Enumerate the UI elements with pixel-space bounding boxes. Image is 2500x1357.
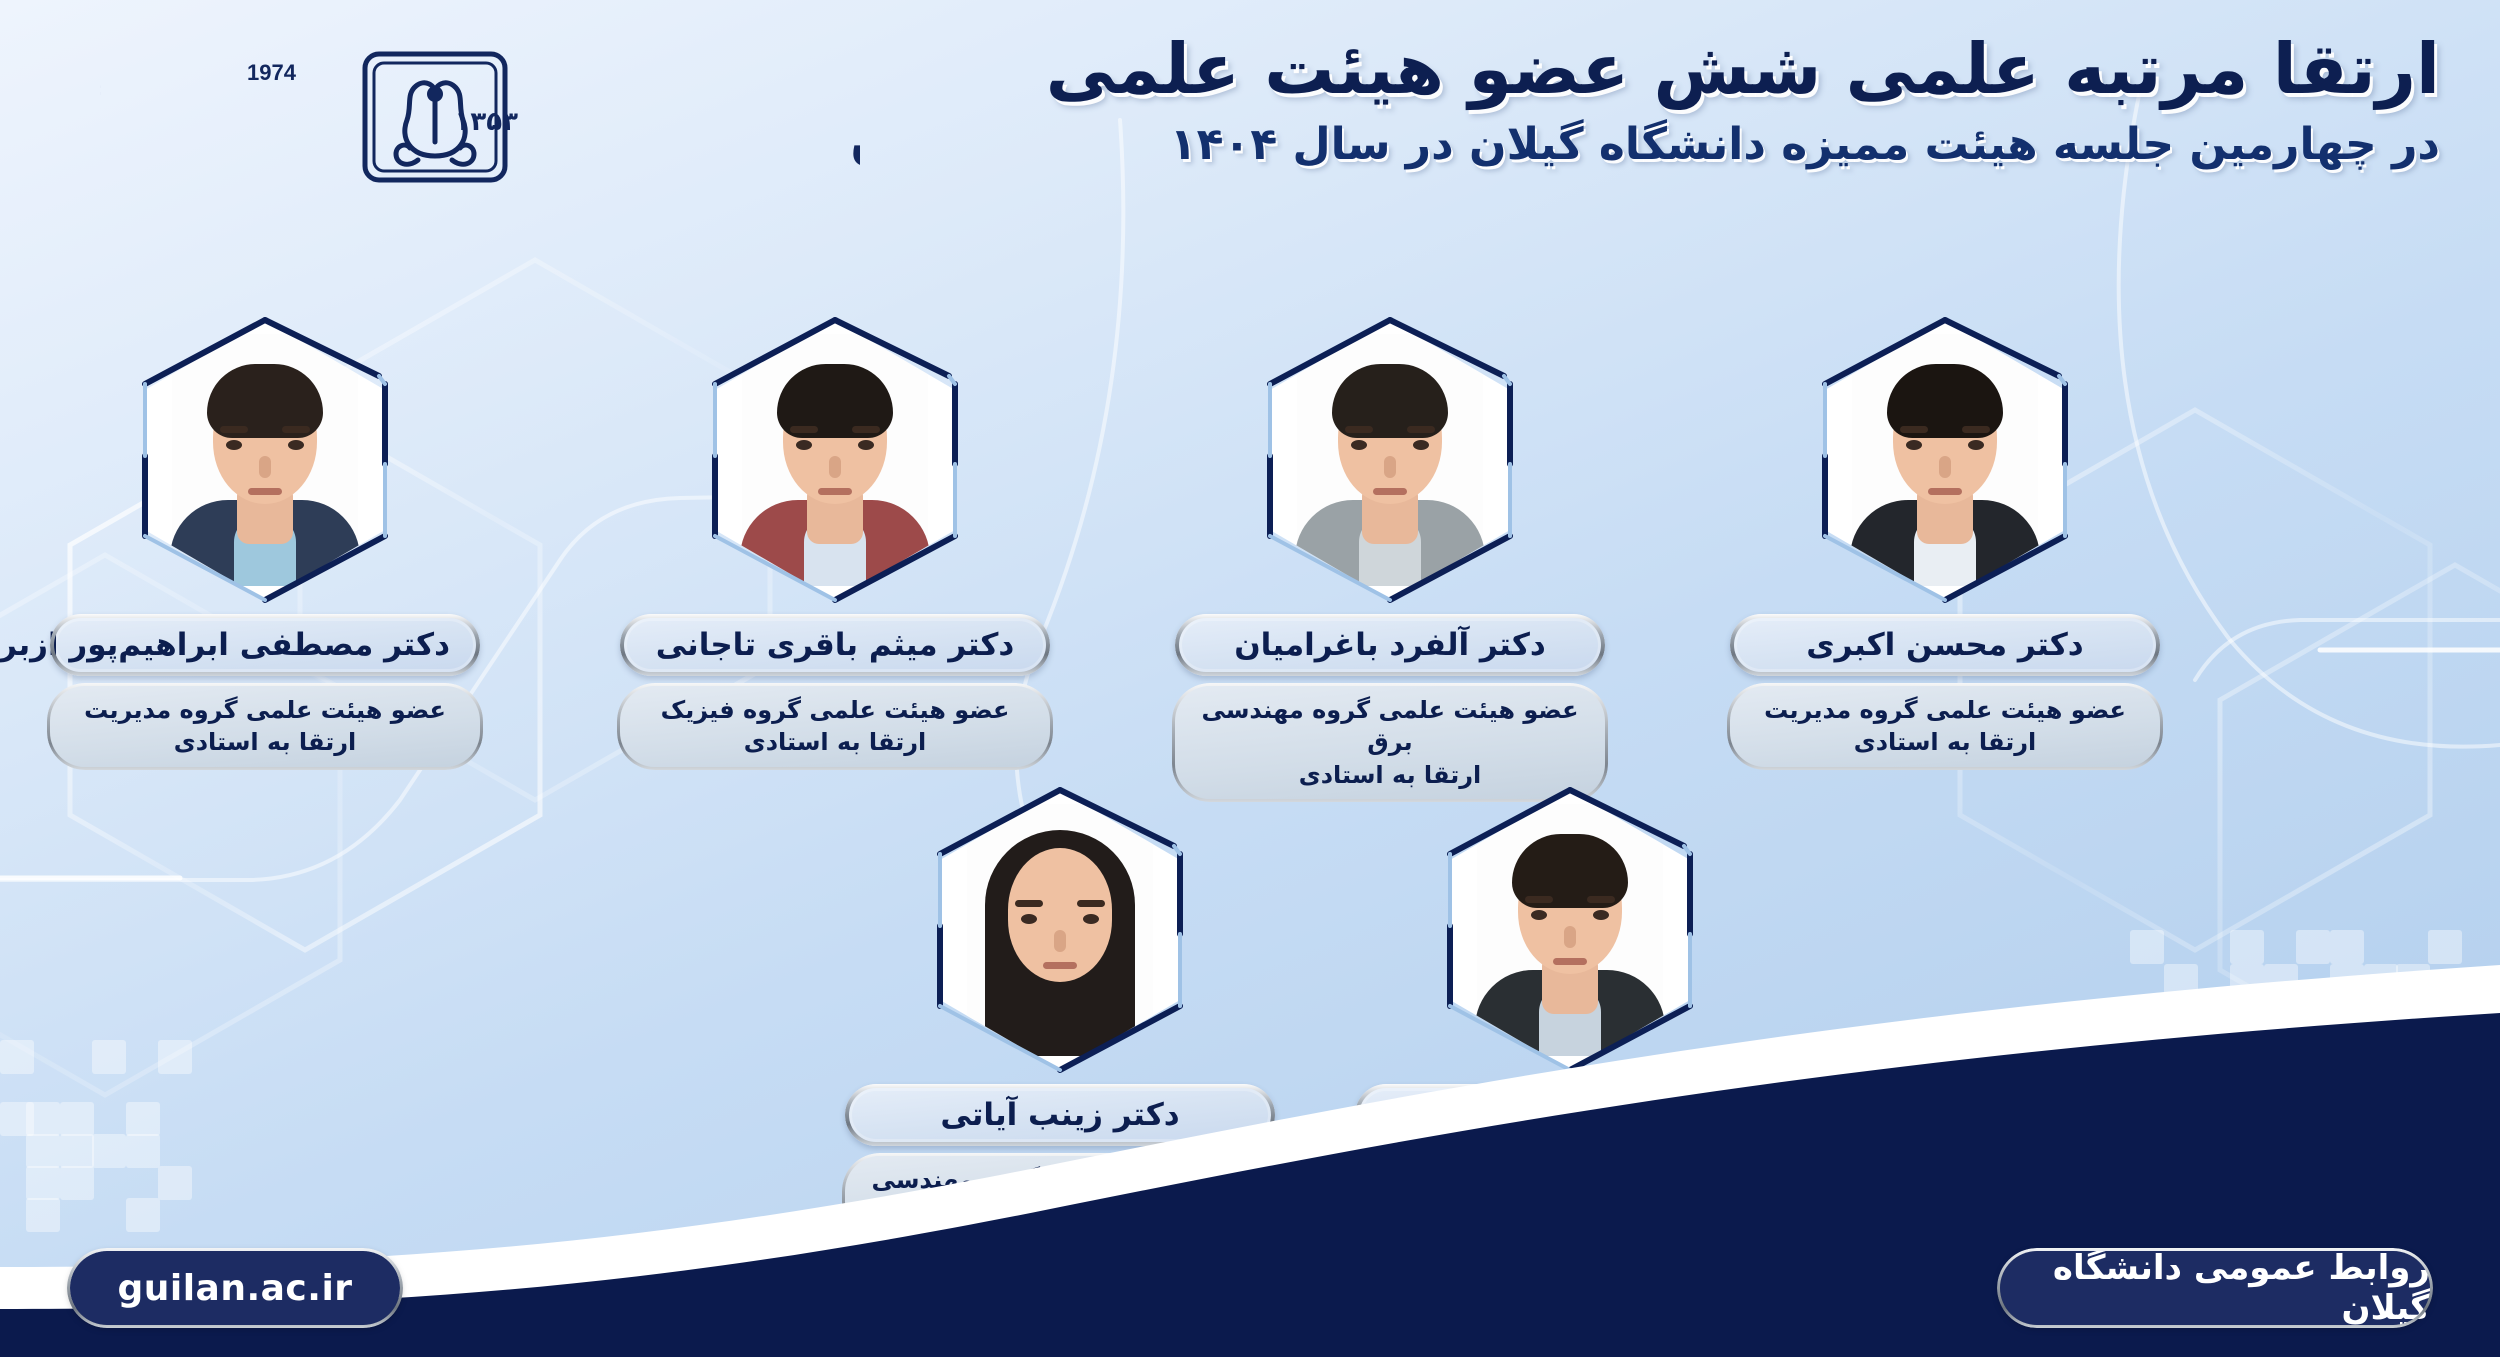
portrait-photo (172, 334, 358, 586)
poster-canvas: University of Guilan 1974 ۱۳۵۳ دانشگاه گ… (0, 0, 2500, 1357)
person-role-line1: عضو هیئت علمی گروه مدیریت (1752, 694, 2138, 726)
website-pill[interactable]: guilan.ac.ir (70, 1251, 400, 1325)
person-role-line2: ارتقا به استادی (1752, 726, 2138, 758)
public-relations-pill[interactable]: روابط عمومی دانشگاه گیلان (2000, 1251, 2430, 1325)
university-logo: University of Guilan 1974 ۱۳۵۳ دانشگاه گ… (100, 38, 860, 188)
person-role: عضو هیئت علمی گروه مدیریت ارتقا به استاد… (50, 686, 480, 767)
person-role: عضو هیئت علمی گروه فیزیک ارتقا به استادی (620, 686, 1050, 767)
person-name: دکتر مصطفی ابراهیم‌پور ازبری (50, 614, 480, 676)
person-card-4: دکتر محسن اکبری عضو هیئت علمی گروه مدیری… (1730, 320, 2160, 767)
logo-en-line1: University of (100, 80, 101, 118)
hexagon-photo-frame (715, 320, 955, 600)
person-card-1: دکتر مصطفی ابراهیم‌پور ازبری عضو هیئت عل… (50, 320, 480, 767)
person-role-line1: عضو هیئت علمی گروه مدیریت (72, 694, 458, 726)
hexagon-photo-frame (1825, 320, 2065, 600)
person-role-line2: ارتقا به استادی (642, 726, 1028, 758)
person-role: عضو هیئت علمی گروه مدیریت ارتقا به استاد… (1730, 686, 2160, 767)
person-name: دکتر آلفرد باغرامیان (1175, 614, 1605, 676)
hexagon-photo-frame (1270, 320, 1510, 600)
header-titles: ارتقا مرتبه علمی شش عضو هیئت علمی در چها… (940, 28, 2440, 172)
logo-year-en: 1974 (247, 60, 297, 85)
person-role-line2: ارتقا به استادی (1197, 759, 1583, 791)
person-role-line1: عضو هیئت علمی گروه مهندسی برق (1197, 694, 1583, 759)
person-card-3: دکتر آلفرد باغرامیان عضو هیئت علمی گروه … (1175, 320, 1605, 799)
avatar (1825, 320, 2065, 600)
logo-year-fa: ۱۳۵۳ (455, 107, 519, 137)
person-role-line1: عضو هیئت علمی گروه فیزیک (642, 694, 1028, 726)
person-name: دکتر میثم باقری تاجانی (620, 614, 1050, 676)
website-label: guilan.ac.ir (117, 1268, 352, 1309)
avatar (715, 320, 955, 600)
public-relations-label: روابط عمومی دانشگاه گیلان (2000, 1248, 2430, 1328)
page-title: ارتقا مرتبه علمی شش عضو هیئت علمی (940, 28, 2440, 111)
avatar (145, 320, 385, 600)
portrait-photo (1852, 334, 2038, 586)
avatar (1270, 320, 1510, 600)
page-subtitle: در چهارمین جلسه هیئت ممیزه دانشگاه گیلان… (940, 117, 2440, 172)
person-role: عضو هیئت علمی گروه مهندسی برق ارتقا به ا… (1175, 686, 1605, 799)
logo-fa-name: دانشگاه گیلان (850, 108, 860, 171)
person-name: دکتر محسن اکبری (1730, 614, 2160, 676)
person-role-line2: ارتقا به استادی (72, 726, 458, 758)
hexagon-photo-frame (145, 320, 385, 600)
person-card-2: دکتر میثم باقری تاجانی عضو هیئت علمی گرو… (620, 320, 1050, 767)
portrait-photo (1297, 334, 1483, 586)
portrait-photo (742, 334, 928, 586)
